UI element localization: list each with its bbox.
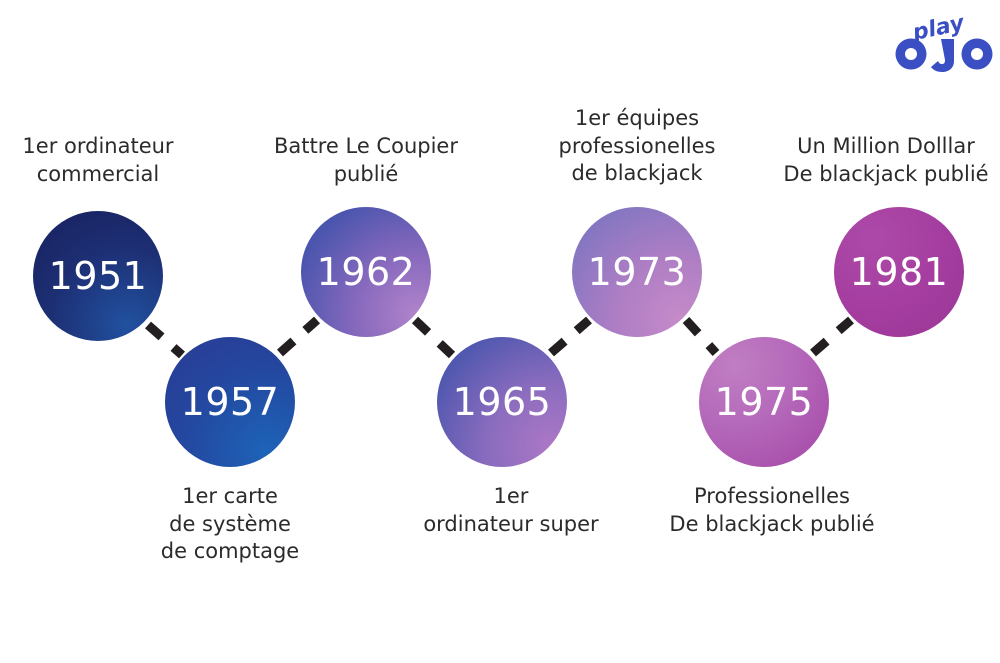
connector-1965-1973 <box>551 320 589 353</box>
timeline-node-1962[interactable]: 1962 <box>301 207 431 337</box>
timeline-caption-1975: Professionelles De blackjack publié <box>658 483 886 538</box>
timeline-caption-1962: Battre Le Coupier publié <box>258 133 474 188</box>
connector-1973-1975 <box>686 320 716 353</box>
timeline-node-1975[interactable]: 1975 <box>699 337 829 467</box>
timeline-caption-1965: 1er ordinateur super <box>403 483 619 538</box>
playojo-logo-icon: play <box>893 8 997 72</box>
timeline-node-1973[interactable]: 1973 <box>572 207 702 337</box>
timeline-year-1962: 1962 <box>317 253 416 291</box>
timeline-node-1951[interactable]: 1951 <box>33 211 163 341</box>
timeline-year-1973: 1973 <box>588 253 687 291</box>
connector-1951-1957 <box>148 325 182 355</box>
timeline-year-1981: 1981 <box>850 253 949 291</box>
connector-1975-1981 <box>813 320 851 353</box>
timeline-caption-1957: 1er carte de système de comptage <box>132 483 328 566</box>
timeline-node-1981[interactable]: 1981 <box>834 207 964 337</box>
timeline-node-1957[interactable]: 1957 <box>165 337 295 467</box>
timeline-node-1965[interactable]: 1965 <box>437 337 567 467</box>
timeline-year-1975: 1975 <box>715 383 814 421</box>
timeline-caption-1981: Un Million Dolllar De blackjack publié <box>772 133 1000 188</box>
timeline-year-1951: 1951 <box>49 257 148 295</box>
connector-1957-1962 <box>280 320 317 353</box>
timeline-year-1965: 1965 <box>453 383 552 421</box>
timeline-year-1957: 1957 <box>181 383 280 421</box>
timeline-infographic: play <box>0 0 1000 663</box>
playojo-logo[interactable]: play <box>893 8 997 72</box>
timeline-caption-1951: 1er ordinateur commercial <box>0 133 196 188</box>
connector-1962-1965 <box>415 320 452 355</box>
timeline-caption-1973: 1er équipes professionelles de blackjack <box>535 105 739 188</box>
